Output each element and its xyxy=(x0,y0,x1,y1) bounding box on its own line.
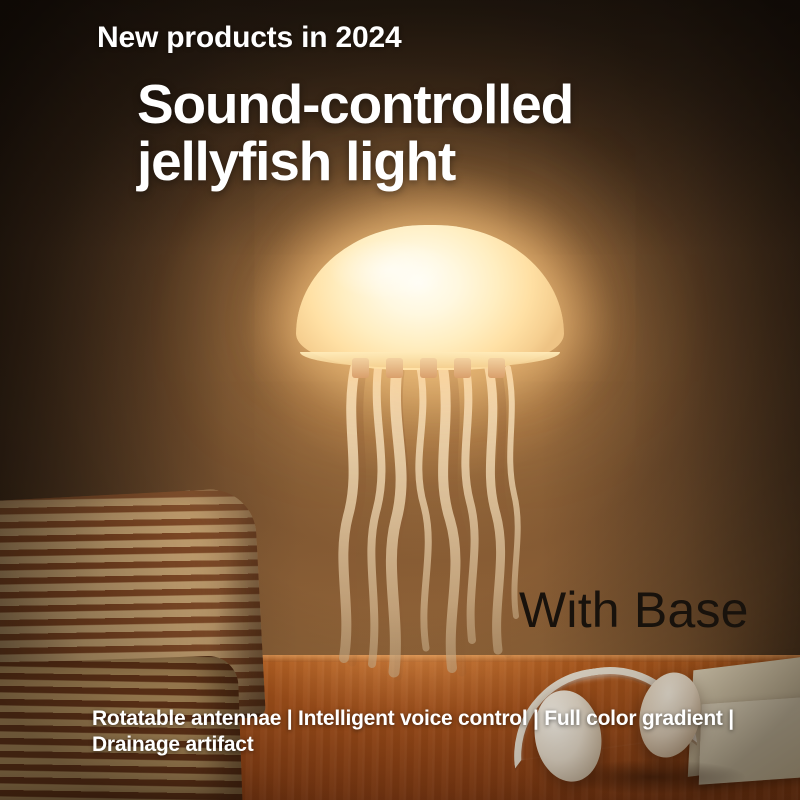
tentacle-nub xyxy=(488,358,505,378)
tentacle-nub xyxy=(454,358,471,378)
tentacle-nub xyxy=(352,358,369,378)
feature-list-caption: Rotatable antennae | Intelligent voice c… xyxy=(92,706,752,757)
dome-highlight xyxy=(330,240,450,300)
page-title: Sound-controlled jellyfish light xyxy=(137,76,573,189)
tentacle-nub xyxy=(420,358,437,378)
product-banner: New products in 2024 Sound-controlled je… xyxy=(0,0,800,800)
eyebrow-text: New products in 2024 xyxy=(97,21,401,55)
with-base-label: With Base xyxy=(519,581,749,639)
tentacle-nub xyxy=(386,358,403,378)
